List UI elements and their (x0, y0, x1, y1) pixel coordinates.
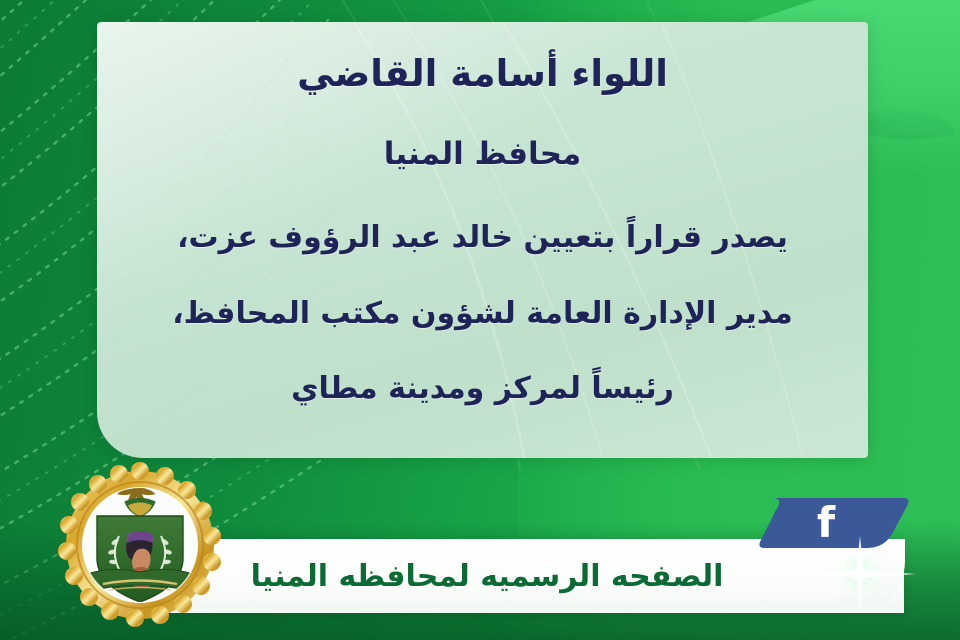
footer-page-label: الصفحه الرسميه لمحافظه المنيا (122, 546, 882, 606)
minya-governorate-emblem (57, 462, 223, 628)
sparkle-flare (800, 528, 920, 618)
announcement-card: اللواء أسامة القاضي محافظ المنيا يصدر قر… (97, 22, 868, 458)
official-name: اللواء أسامة القاضي (131, 52, 834, 96)
announcement-line-1: يصدر قراراً بتعيين خالد عبد الرؤوف عزت، (131, 220, 834, 255)
poster-canvas: اللواء أسامة القاضي محافظ المنيا يصدر قر… (0, 0, 960, 640)
announcement-line-2: مدير الإدارة العامة لشؤون مكتب المحافظ، (131, 296, 834, 331)
official-title: محافظ المنيا (131, 136, 834, 173)
announcement-line-3: رئيساً لمركز ومدينة مطاي (131, 371, 834, 406)
